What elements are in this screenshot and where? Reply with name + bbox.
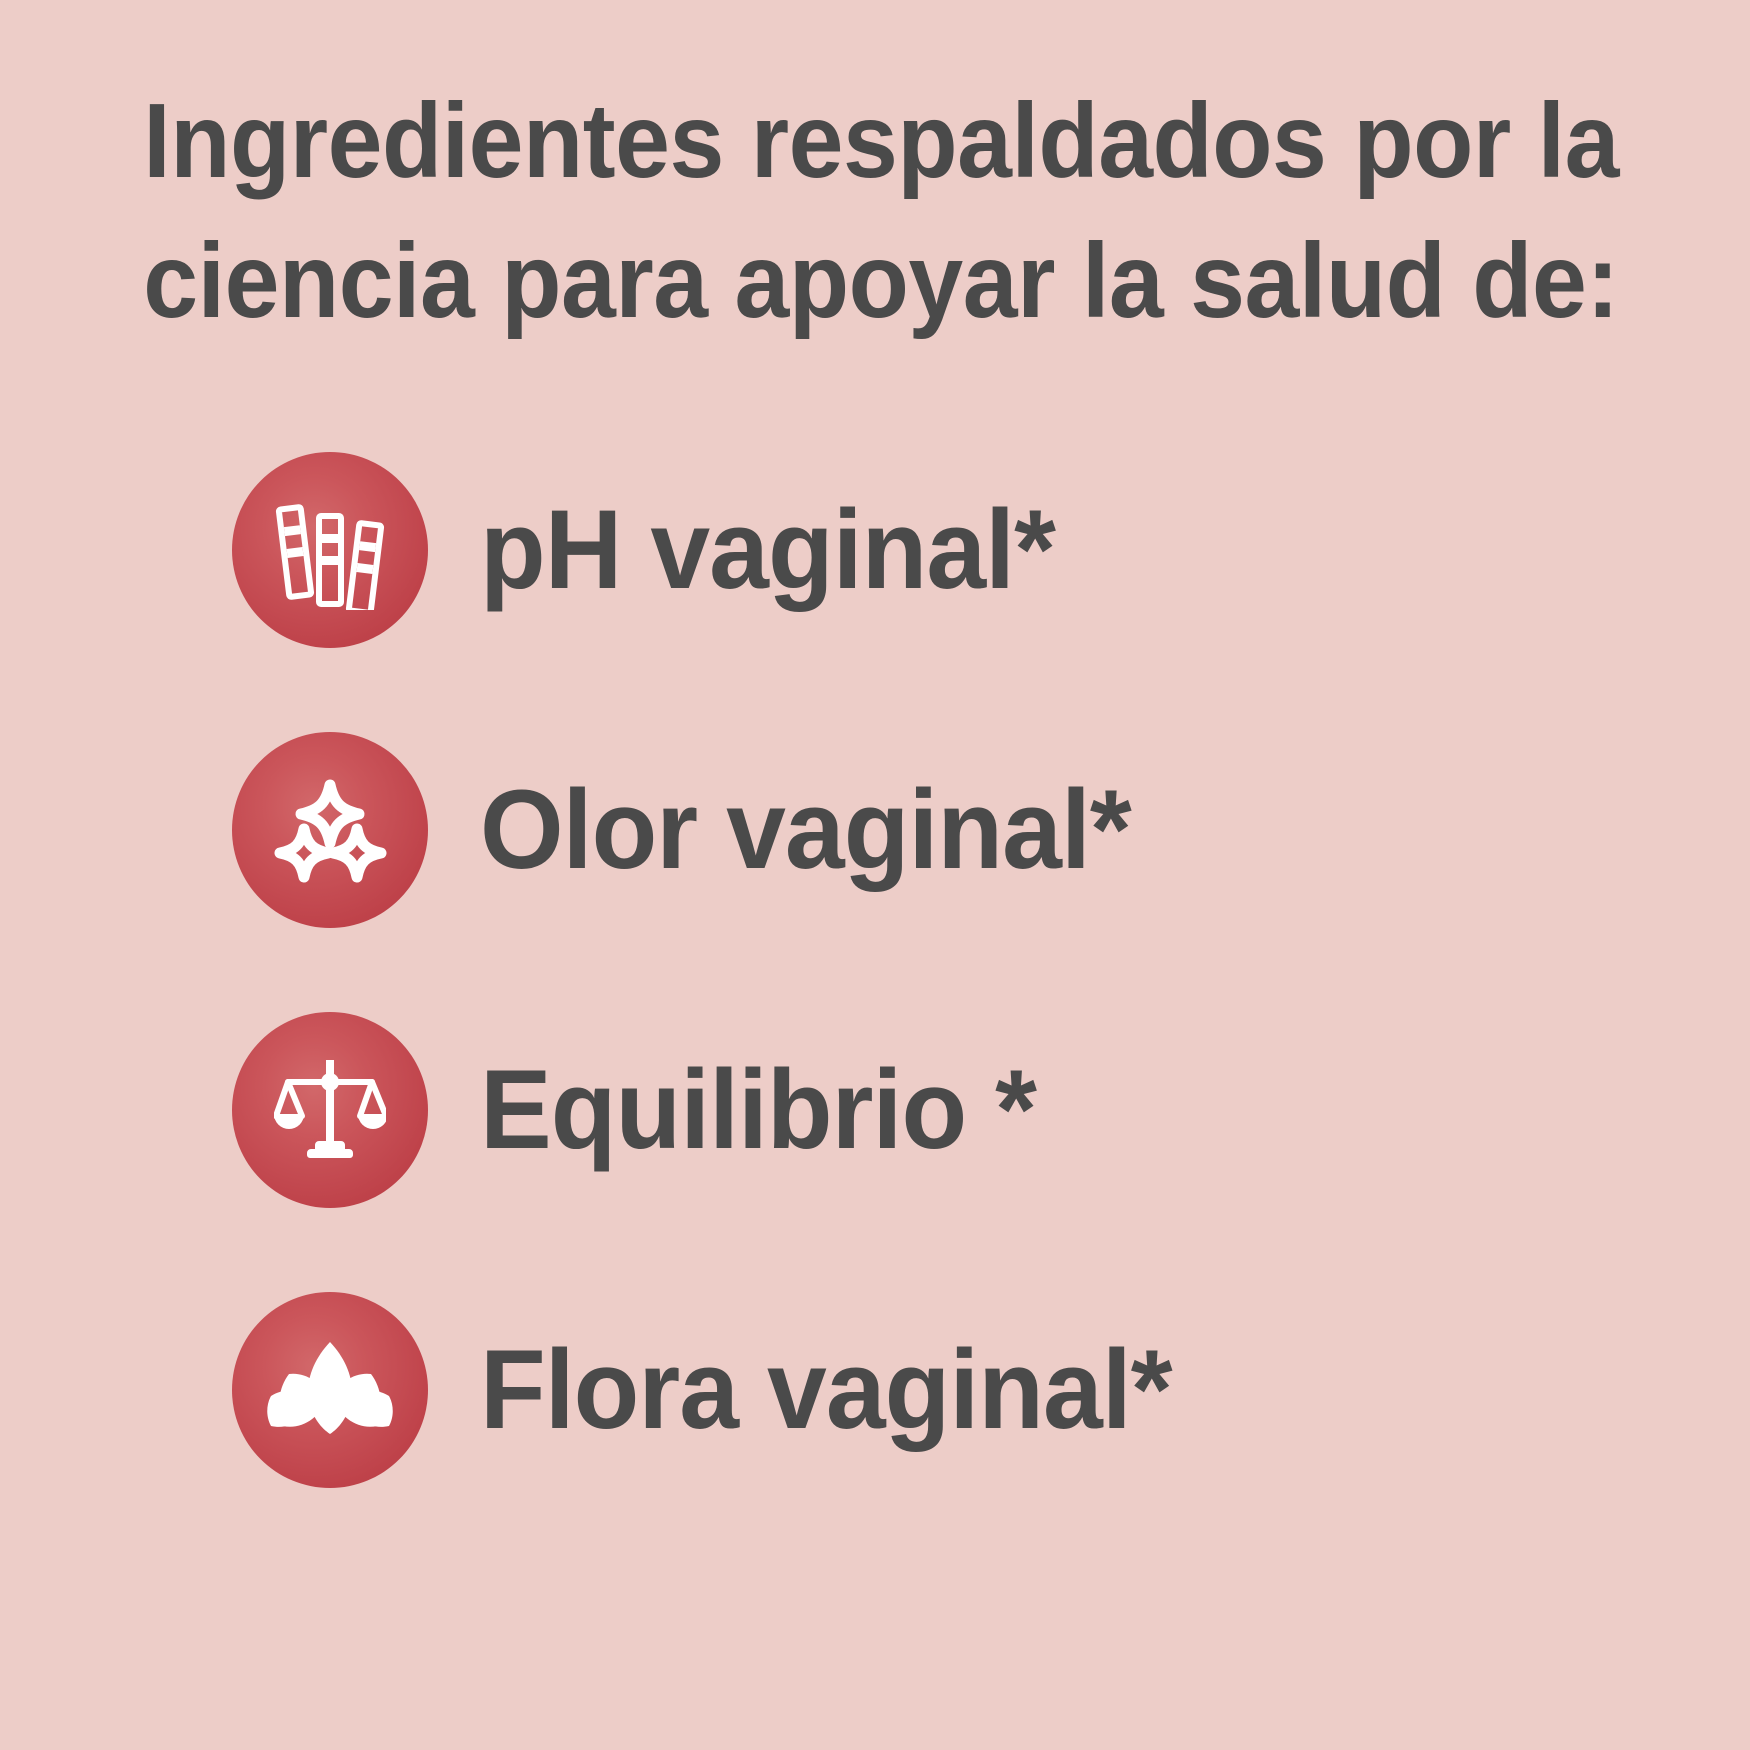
page-title-line-1: Ingredientes respaldados por la bbox=[143, 72, 1612, 212]
benefits-list: pH vaginal* Olor vaginal* bbox=[0, 410, 1750, 1530]
list-item-label: pH vaginal* bbox=[480, 494, 1055, 606]
page-title-line-2: ciencia para apoyar la salud de: bbox=[143, 212, 1612, 352]
lotus-flower-icon bbox=[232, 1292, 428, 1488]
sparkles-icon bbox=[232, 732, 428, 928]
list-item-label: Equilibrio * bbox=[480, 1054, 1036, 1166]
list-item: Olor vaginal* bbox=[0, 690, 1750, 970]
ph-test-strips-icon bbox=[232, 452, 428, 648]
balance-scale-icon bbox=[232, 1012, 428, 1208]
list-item: Flora vaginal* bbox=[0, 1250, 1750, 1530]
list-item: pH vaginal* bbox=[0, 410, 1750, 690]
list-item-label: Flora vaginal* bbox=[480, 1334, 1172, 1446]
list-item: Equilibrio * bbox=[0, 970, 1750, 1250]
page-title: Ingredientes respaldados por la ciencia … bbox=[143, 72, 1612, 352]
list-item-label: Olor vaginal* bbox=[480, 774, 1131, 886]
promo-poster: Ingredientes respaldados por la ciencia … bbox=[0, 0, 1750, 1750]
